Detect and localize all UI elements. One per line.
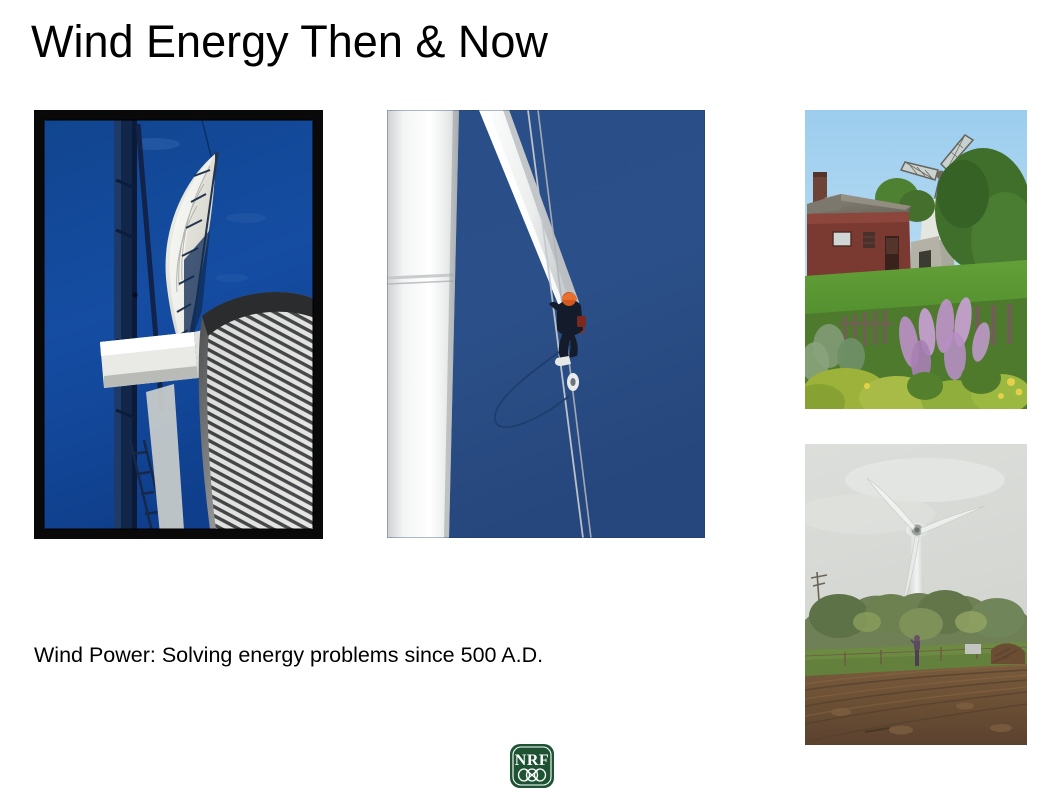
photo-historic-house [805,110,1027,409]
slide-canvas: Wind Energy Then & Now [0,0,1061,800]
sail-windmill-illustration [34,110,323,539]
photo-sail-windmill [34,110,323,539]
page-title: Wind Energy Then & Now [31,14,548,70]
svg-text:NRF: NRF [515,752,549,769]
photo-turbine-climber [387,110,705,538]
nrf-logo-mark: NRF [508,742,556,792]
farm-turbine-illustration [805,444,1027,745]
turbine-climber-illustration [387,110,705,538]
nrf-logo: NRF [508,742,556,792]
photo-farm-turbine [805,444,1027,745]
slide-caption: Wind Power: Solving energy problems sinc… [34,641,543,669]
historic-house-illustration [805,110,1027,409]
